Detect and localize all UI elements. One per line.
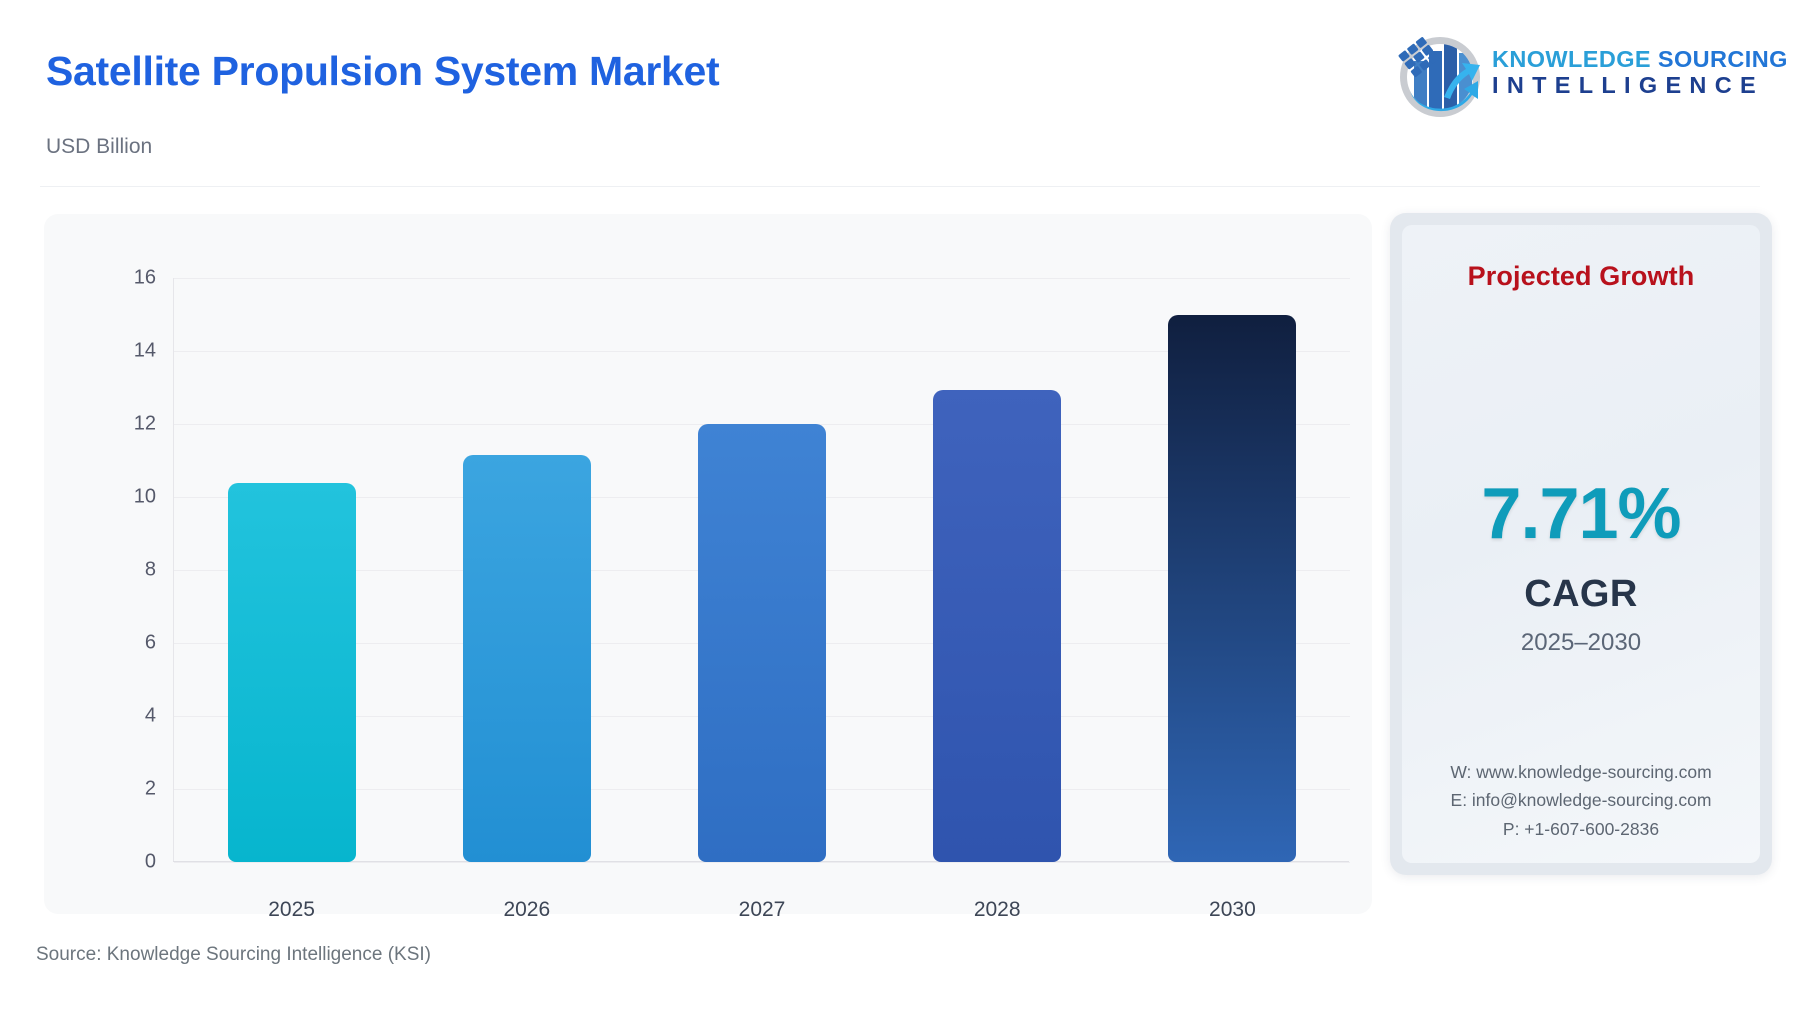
source-note: Source: Knowledge Sourcing Intelligence … <box>36 944 431 966</box>
x-axis-tick-label: 2026 <box>503 898 550 922</box>
logo-wordmark: KNOWLEDGE SOURCING INTELLIGENCE <box>1492 46 1782 99</box>
y-axis-tick-label: 10 <box>134 486 156 509</box>
projected-growth-card: Projected Growth 7.71% CAGR 2025–2030 W:… <box>1390 213 1772 875</box>
logo-word-knowledge: KNOWLEDGE <box>1492 46 1651 72</box>
gridline <box>174 278 1350 279</box>
logo-word-sourcing: SOURCING <box>1658 46 1788 72</box>
y-axis-tick-label: 8 <box>145 559 156 582</box>
projected-growth-heading: Projected Growth <box>1402 261 1760 292</box>
bar-2028[interactable] <box>933 390 1061 862</box>
y-axis-tick-label: 4 <box>145 705 156 728</box>
contact-block: W: www.knowledge-sourcing.com E: info@kn… <box>1402 758 1760 843</box>
chart-panel: 024681012141620252026202720282030 <box>44 214 1372 914</box>
contact-email[interactable]: E: info@knowledge-sourcing.com <box>1402 786 1760 814</box>
bar-2030[interactable] <box>1168 315 1296 863</box>
y-axis-tick-label: 14 <box>134 340 156 363</box>
cagr-label: CAGR <box>1402 573 1760 616</box>
company-logo: KNOWLEDGE SOURCING INTELLIGENCE <box>1392 22 1782 128</box>
y-axis-tick-label: 16 <box>134 267 156 290</box>
x-axis-tick-label: 2028 <box>974 898 1021 922</box>
bar-2026[interactable] <box>463 455 591 862</box>
globe-solar-arrow-icon <box>1392 27 1488 123</box>
cagr-period: 2025–2030 <box>1402 629 1760 657</box>
page-subtitle-units: USD Billion <box>46 135 152 159</box>
x-axis-tick-label: 2030 <box>1209 898 1256 922</box>
bar-2025[interactable] <box>228 483 356 862</box>
projected-growth-card-inner: Projected Growth 7.71% CAGR 2025–2030 W:… <box>1402 225 1760 863</box>
header-divider <box>40 186 1760 187</box>
x-axis-tick-label: 2027 <box>739 898 786 922</box>
bar-chart-plot-area: 024681012141620252026202720282030 <box>174 278 1350 862</box>
y-axis-tick-label: 2 <box>145 778 156 801</box>
logo-line-1: KNOWLEDGE SOURCING <box>1492 46 1782 72</box>
y-axis-tick-label: 0 <box>145 851 156 874</box>
y-axis-tick-label: 6 <box>145 632 156 655</box>
y-axis-tick-label: 12 <box>134 413 156 436</box>
x-axis-tick-label: 2025 <box>268 898 315 922</box>
page-title: Satellite Propulsion System Market <box>46 48 719 95</box>
contact-website[interactable]: W: www.knowledge-sourcing.com <box>1402 758 1760 786</box>
gridline <box>174 862 1350 863</box>
bar-2027[interactable] <box>698 424 826 862</box>
cagr-value: 7.71% <box>1402 473 1760 555</box>
contact-phone[interactable]: P: +1-607-600-2836 <box>1402 815 1760 843</box>
logo-line-2: INTELLIGENCE <box>1492 72 1782 99</box>
